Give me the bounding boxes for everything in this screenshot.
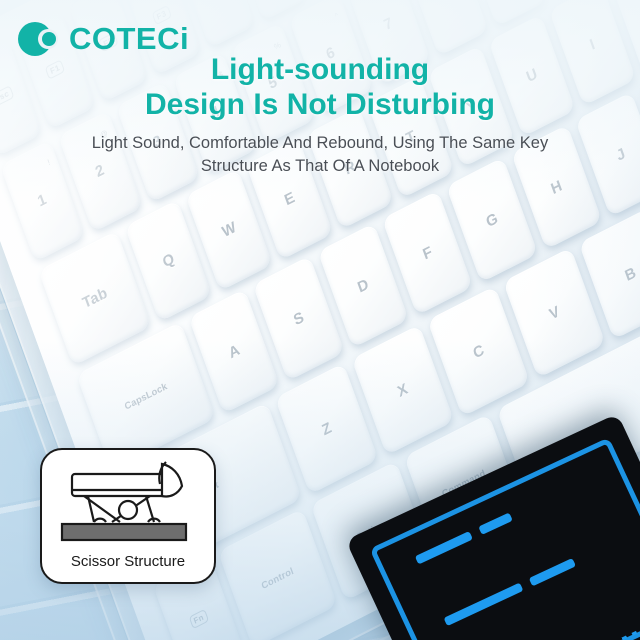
key-label: A <box>227 341 243 362</box>
scissor-mechanism-icon <box>54 458 202 550</box>
key-label: Q <box>160 250 177 272</box>
header-text-block: Light-sounding Design Is Not Disturbing … <box>0 52 640 179</box>
key-label: Z <box>320 419 334 439</box>
product-banner: EscF1F2F3F4F5F6F7F8F9F10F11F12!1@2#3$4%5… <box>0 0 640 640</box>
key-label: Control <box>260 565 295 591</box>
key-label: 1 <box>36 191 50 211</box>
key-secondary-label: % <box>272 39 283 53</box>
key-label: X <box>395 380 410 401</box>
key-label: Tab <box>80 284 110 312</box>
key-label: E <box>282 189 297 210</box>
scissor-structure-callout: Scissor Structure <box>40 448 216 584</box>
key-secondary-label: ^ <box>333 9 341 22</box>
subtitle-line-2: Structure As That Of A Notebook <box>0 155 640 178</box>
key-label: S <box>291 308 306 329</box>
key-label: W <box>220 219 239 242</box>
key-label: F <box>421 243 435 263</box>
headline-line-1: Light-sounding <box>0 52 640 87</box>
key-label: D <box>355 275 371 296</box>
key-label: G <box>484 210 501 232</box>
subtitle-line-1: Light Sound, Comfortable And Rebound, Us… <box>0 132 640 155</box>
key-label: H <box>549 177 565 198</box>
key-label: C <box>471 341 487 362</box>
key-label: Fn <box>188 608 209 629</box>
headline-line-2: Design Is Not Disturbing <box>0 87 640 122</box>
key-label: 8 <box>439 0 453 5</box>
key-label: B <box>623 264 639 285</box>
callout-caption: Scissor Structure <box>42 553 214 570</box>
key-label: CapsLock <box>123 381 169 413</box>
key-label: V <box>547 302 562 323</box>
key-label: 7 <box>382 14 396 34</box>
